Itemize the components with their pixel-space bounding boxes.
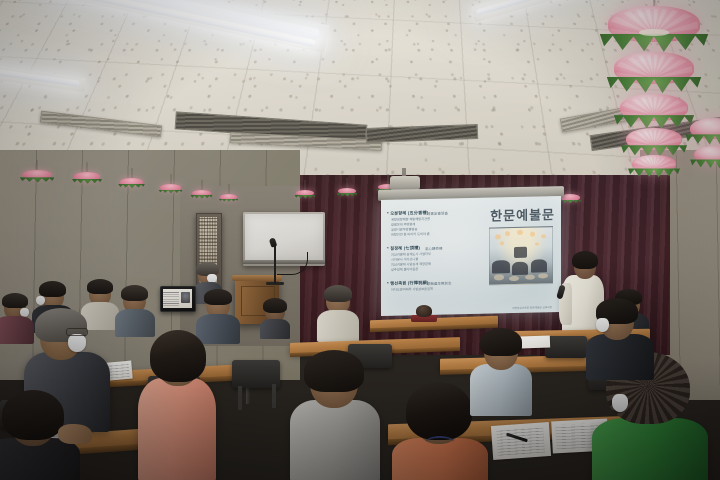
lotus-lantern-wall	[120, 178, 143, 191]
laptop[interactable]	[160, 286, 196, 312]
face-mask	[612, 394, 628, 412]
lanyard	[426, 436, 454, 448]
face-mask	[596, 318, 609, 332]
audience-member	[262, 300, 288, 336]
handout-paper[interactable]	[491, 422, 551, 460]
face-mask	[68, 334, 86, 352]
chair-frame	[238, 386, 242, 410]
slide-section-sub: 至心歸命禮	[425, 245, 442, 250]
laptop-display	[163, 289, 192, 308]
audience-member-foreground	[138, 330, 216, 480]
lotus-lantern-wall	[338, 188, 356, 199]
slide-section-heading: * 칠정례 (七頂禮)	[387, 245, 420, 252]
mic-stand-pole	[274, 242, 276, 284]
slide-title: 한문예불문	[490, 204, 555, 224]
presenter-hair	[572, 251, 598, 269]
lotus-lantern-wall	[220, 194, 237, 204]
document-text-lines	[163, 291, 180, 305]
paper-text-lines	[496, 427, 545, 455]
light-blue-shirt	[470, 364, 532, 416]
audience-member	[118, 288, 152, 336]
green-top	[592, 418, 708, 480]
slide-section-sub: 戒香定香慧香	[427, 210, 448, 215]
lotus-lantern-hanging	[632, 155, 676, 183]
lotus-lantern-wall	[160, 184, 181, 196]
lotus-lantern-wall	[22, 170, 52, 186]
audience-member	[586, 300, 654, 378]
slide-section-heading: * 행선축원 (行禪祝願)	[387, 280, 429, 287]
lotus-lantern-wall	[192, 190, 211, 201]
audience-member	[470, 330, 532, 412]
hair	[2, 390, 64, 440]
photo-scene: 한문예불문 * 오분향례 (五分香禮) 戒香定香慧香 계향정향혜향 해탈해탈지견…	[0, 0, 720, 480]
eyeglasses-icon	[66, 328, 88, 336]
audience-member-foreground	[290, 352, 380, 480]
slide-body-line: 아차도량여제주 시방삼보동일체	[391, 287, 433, 293]
projection-screen[interactable]: 한문예불문 * 오분향례 (五分香禮) 戒香定香慧香 계향정향혜향 해탈해탈지견…	[381, 196, 561, 316]
hat	[416, 305, 432, 317]
dark-shirt	[586, 334, 654, 380]
hair	[150, 330, 206, 382]
salmon-shirt	[138, 378, 216, 480]
chair[interactable]	[545, 336, 587, 358]
hair	[480, 328, 522, 356]
projector	[390, 176, 420, 190]
document-photo	[181, 292, 190, 303]
slide-section-heading: * 오분향례 (五分香禮)	[387, 210, 429, 217]
chair-frame	[272, 384, 276, 408]
hair	[304, 350, 364, 392]
lotus-lantern-hanging	[694, 146, 720, 174]
slide-photo	[489, 226, 553, 285]
lotus-lantern-wall	[296, 190, 314, 201]
slide-body-line: 헌향진언 옴 바아라 도비야 훔	[391, 232, 430, 238]
lotus-lantern-wall	[74, 172, 100, 187]
hand	[58, 424, 92, 444]
slide-body-line: 상주일체 불타야중론	[391, 267, 418, 272]
slide-section-sub: 願我盡生無別念	[427, 280, 451, 286]
grey-shirt	[290, 400, 380, 480]
audience-member	[320, 288, 356, 340]
hair	[406, 382, 472, 440]
